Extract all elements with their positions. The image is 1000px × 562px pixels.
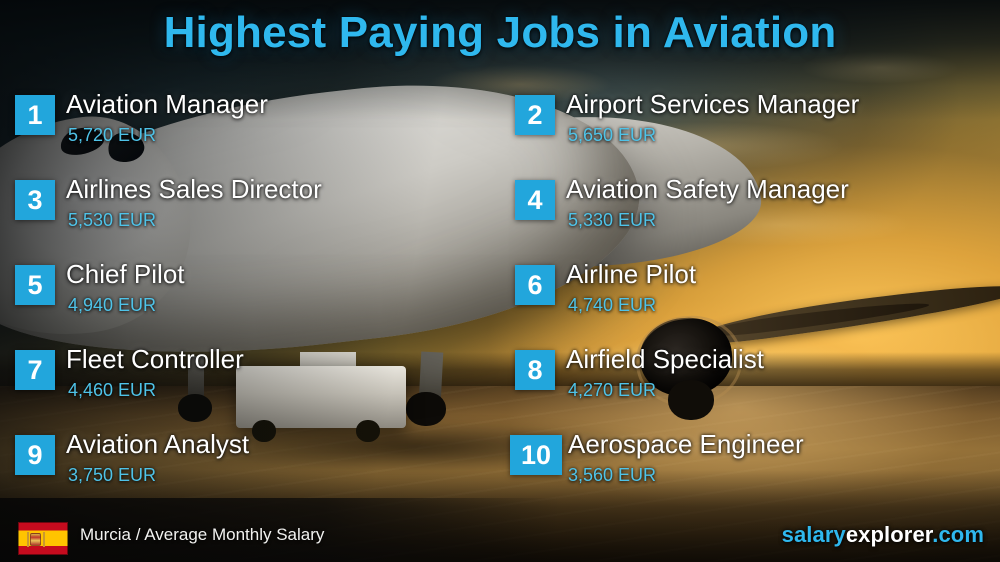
job-title: Aerospace Engineer [568, 429, 804, 460]
rank-badge: 7 [15, 350, 55, 390]
brand-text-salary: salary [782, 522, 846, 547]
region-and-metric-label: Murcia / Average Monthly Salary [80, 525, 324, 545]
content-overlay: Highest Paying Jobs in Aviation 1 Aviati… [0, 0, 1000, 562]
rank-badge: 5 [15, 265, 55, 305]
rank-badge: 2 [515, 95, 555, 135]
jobs-row: 1 Aviation Manager 5,720 EUR 2 Airport S… [0, 86, 1000, 171]
job-item-9[interactable]: 9 Aviation Analyst 3,750 EUR [0, 426, 500, 511]
flag-crest-pillar-left [27, 532, 29, 547]
job-salary: 5,720 EUR [68, 125, 156, 146]
job-title: Aviation Safety Manager [566, 174, 849, 205]
flag-coat-of-arms [30, 533, 41, 546]
rank-badge: 1 [15, 95, 55, 135]
job-title: Chief Pilot [66, 259, 185, 290]
job-item-3[interactable]: 3 Airlines Sales Director 5,530 EUR [0, 171, 500, 256]
jobs-row: 7 Fleet Controller 4,460 EUR 8 Airfield … [0, 341, 1000, 426]
rank-badge: 4 [515, 180, 555, 220]
job-item-8[interactable]: 8 Airfield Specialist 4,270 EUR [500, 341, 1000, 426]
jobs-row: 9 Aviation Analyst 3,750 EUR 10 Aerospac… [0, 426, 1000, 511]
job-item-1[interactable]: 1 Aviation Manager 5,720 EUR [0, 86, 500, 171]
brand-text-tld: .com [932, 522, 984, 547]
job-title: Airport Services Manager [566, 89, 859, 120]
page-title: Highest Paying Jobs in Aviation [0, 8, 1000, 58]
job-item-7[interactable]: 7 Fleet Controller 4,460 EUR [0, 341, 500, 426]
job-salary: 3,560 EUR [568, 465, 656, 486]
jobs-row: 5 Chief Pilot 4,940 EUR 6 Airline Pilot … [0, 256, 1000, 341]
job-salary: 4,740 EUR [568, 295, 656, 316]
job-salary: 5,650 EUR [568, 125, 656, 146]
brand-logo[interactable]: salaryexplorer.com [782, 522, 984, 548]
rank-badge: 8 [515, 350, 555, 390]
job-title: Aviation Analyst [66, 429, 249, 460]
rank-badge: 9 [15, 435, 55, 475]
brand-text-explorer: explorer [846, 522, 932, 547]
job-salary: 5,330 EUR [568, 210, 656, 231]
rank-badge: 3 [15, 180, 55, 220]
job-salary: 4,270 EUR [568, 380, 656, 401]
rank-badge: 10 [510, 435, 562, 475]
job-item-10[interactable]: 10 Aerospace Engineer 3,560 EUR [500, 426, 1000, 511]
job-item-4[interactable]: 4 Aviation Safety Manager 5,330 EUR [500, 171, 1000, 256]
job-salary: 5,530 EUR [68, 210, 156, 231]
job-item-5[interactable]: 5 Chief Pilot 4,940 EUR [0, 256, 500, 341]
job-salary: 4,460 EUR [68, 380, 156, 401]
job-item-2[interactable]: 2 Airport Services Manager 5,650 EUR [500, 86, 1000, 171]
job-title: Airlines Sales Director [66, 174, 322, 205]
job-title: Aviation Manager [66, 89, 268, 120]
job-title: Airline Pilot [566, 259, 696, 290]
job-salary: 4,940 EUR [68, 295, 156, 316]
jobs-list: 1 Aviation Manager 5,720 EUR 2 Airport S… [0, 86, 1000, 511]
job-title: Airfield Specialist [566, 344, 764, 375]
infographic-root: Highest Paying Jobs in Aviation 1 Aviati… [0, 0, 1000, 562]
flag-crest-pillar-right [43, 532, 45, 547]
job-item-6[interactable]: 6 Airline Pilot 4,740 EUR [500, 256, 1000, 341]
jobs-row: 3 Airlines Sales Director 5,530 EUR 4 Av… [0, 171, 1000, 256]
spain-flag-icon [18, 522, 68, 555]
job-title: Fleet Controller [66, 344, 244, 375]
rank-badge: 6 [515, 265, 555, 305]
job-salary: 3,750 EUR [68, 465, 156, 486]
footer: Murcia / Average Monthly Salary salaryex… [0, 510, 1000, 562]
